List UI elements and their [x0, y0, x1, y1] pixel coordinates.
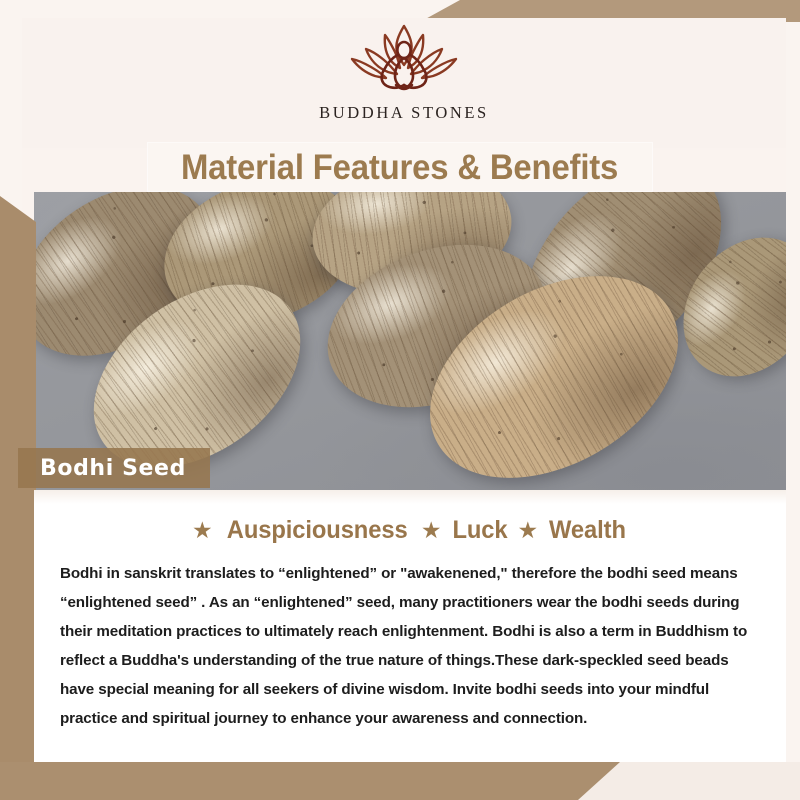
title-banner: Material Features & Benefits	[148, 143, 652, 191]
product-photo	[34, 192, 786, 490]
star-icon: ★	[421, 519, 442, 542]
poster-header: BUDDHA STONES	[22, 18, 786, 148]
benefit-keyword-wealth: Wealth	[549, 516, 626, 545]
frame-bottom-accent	[0, 762, 620, 800]
star-icon: ★	[192, 519, 213, 542]
benefit-keyword-luck: Luck	[452, 516, 507, 545]
page-title: Material Features & Benefits	[181, 150, 618, 185]
star-icon: ★	[518, 519, 539, 542]
product-name-tag: Bodhi Seed	[18, 448, 210, 488]
brand-logo: BUDDHA STONES	[319, 22, 489, 123]
product-feature-poster: BUDDHA STONES Material Features & Benefi…	[0, 0, 800, 800]
description-card: ★ Auspiciousness ★ Luck ★ Wealth Bodhi i…	[34, 490, 786, 762]
benefits-headline: ★ Auspiciousness ★ Luck ★ Wealth	[192, 516, 628, 545]
card-top-fade	[34, 490, 786, 504]
description-paragraph: Bodhi in sanskrit translates to “enlight…	[60, 559, 760, 733]
benefit-keyword-auspiciousness: Auspiciousness	[226, 516, 407, 545]
brand-name: BUDDHA STONES	[319, 103, 489, 123]
product-name-label: Bodhi Seed	[18, 456, 186, 481]
lotus-meditation-icon	[340, 22, 468, 100]
